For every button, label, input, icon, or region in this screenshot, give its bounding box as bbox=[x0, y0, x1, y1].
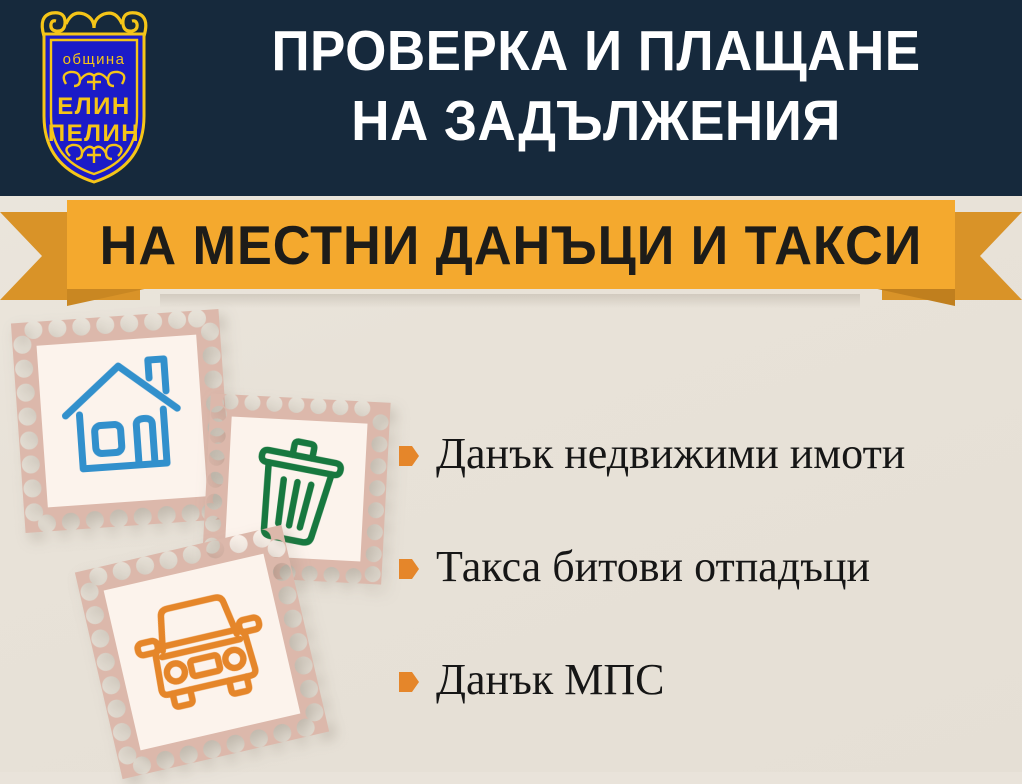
list-item[interactable]: Данък МПС bbox=[398, 650, 1008, 710]
header-title-block: ПРОВЕРКА И ПЛАЩАНЕ НА ЗАДЪЛЖЕНИЯ bbox=[186, 16, 1006, 156]
ribbon-panel: НА МЕСТНИ ДАНЪЦИ И ТАКСИ bbox=[67, 200, 955, 289]
arrow-right-bullet-icon bbox=[398, 556, 420, 582]
page-title-line-2: НА ЗАДЪЛЖЕНИЯ bbox=[215, 86, 978, 156]
subtitle-ribbon: НА МЕСТНИ ДАНЪЦИ И ТАКСИ bbox=[0, 196, 1022, 308]
list-item-label: Такса битови отпадъци bbox=[436, 541, 870, 593]
stamp-property-tax bbox=[11, 309, 233, 533]
list-item-label: Данък МПС bbox=[436, 654, 664, 706]
house-stamp-svg bbox=[11, 309, 233, 533]
page-title-line-1: ПРОВЕРКА И ПЛАЩАНЕ bbox=[215, 16, 978, 86]
crest-text-line-2: ПЕЛИН bbox=[48, 120, 140, 147]
crest-text-small: община bbox=[63, 51, 126, 68]
arrow-right-bullet-icon bbox=[398, 669, 420, 695]
ribbon-label: НА МЕСТНИ ДАНЪЦИ И ТАКСИ bbox=[100, 213, 923, 277]
list-item-label: Данък недвижими имоти bbox=[436, 428, 905, 480]
crest-text-line-1: ЕЛИН bbox=[57, 93, 130, 120]
list-item[interactable]: Данък недвижими имоти bbox=[398, 424, 1008, 484]
list-item[interactable]: Такса битови отпадъци bbox=[398, 537, 1008, 597]
ribbon-drop-shadow bbox=[160, 294, 860, 308]
header-banner: община ЕЛИН ПЕЛИН ПРОВЕРКА И ПЛАЩАНЕ НА … bbox=[0, 0, 1022, 196]
coat-of-arms-crest: община ЕЛИН ПЕЛИН bbox=[18, 4, 170, 188]
tax-type-list: Данък недвижими имоти Такса битови отпад… bbox=[398, 424, 1008, 763]
arrow-right-bullet-icon bbox=[398, 443, 420, 469]
crest-svg: община ЕЛИН ПЕЛИН bbox=[18, 4, 170, 188]
